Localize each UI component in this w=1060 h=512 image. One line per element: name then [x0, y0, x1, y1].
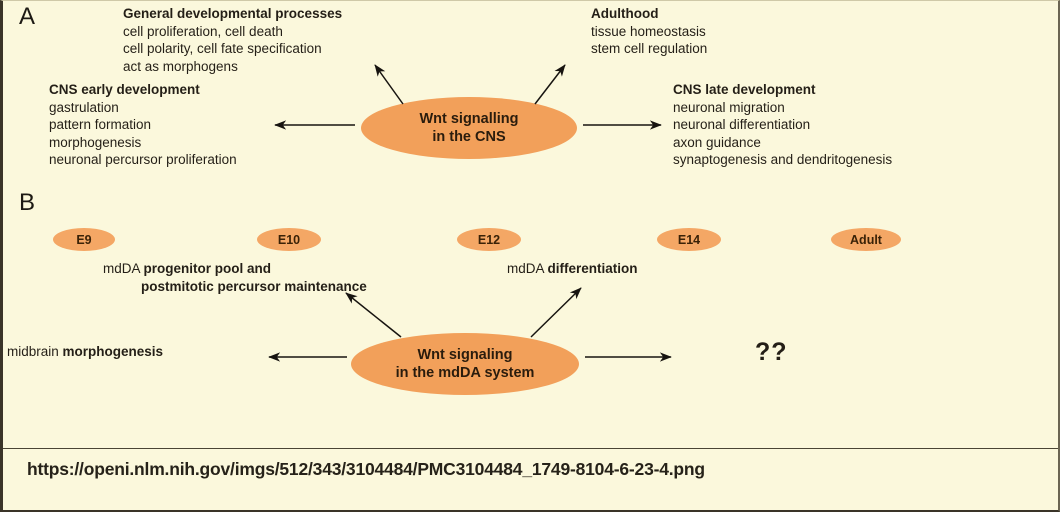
core-node-wnt-signaling-mdda: Wnt signaling in the mdDA system [351, 333, 579, 395]
block-heading: General developmental processes [123, 5, 342, 23]
label-line-2: postmitotic percursor maintenance [103, 278, 367, 296]
timeline-stage-e9: E9 [53, 228, 115, 251]
panel-letter-b: B [19, 189, 36, 217]
arrow-overlay [3, 1, 1060, 512]
label-mdda-differentiation: mdDA differentiation [507, 260, 638, 278]
timeline-stage-label: E12 [478, 233, 500, 247]
label-prefix: mdDA [507, 261, 548, 276]
block-item: cell polarity, cell fate specification [123, 40, 342, 58]
core-node-wnt-signalling-cns: Wnt signalling in the CNS [361, 97, 577, 159]
caption-separator [3, 448, 1058, 449]
timeline-stage-label: E14 [678, 233, 700, 247]
block-item: stem cell regulation [591, 40, 707, 58]
block-heading: Adulthood [591, 5, 707, 23]
block-heading: CNS early development [49, 81, 237, 99]
core-node-label: Wnt signaling in the mdDA system [396, 346, 535, 382]
source-url-caption: https://openi.nlm.nih.gov/imgs/512/343/3… [27, 459, 705, 480]
panel-letter-a: A [19, 3, 36, 31]
block-item: axon guidance [673, 134, 892, 152]
text-block-cns-early-development: CNS early development gastrulation patte… [49, 81, 237, 169]
core-label-line-1: Wnt signaling [417, 347, 512, 363]
timeline-stage-adult: Adult [831, 228, 901, 251]
arrow-a-to-adulthood [535, 65, 565, 104]
core-label-line-2: in the mdDA system [396, 365, 535, 381]
timeline-stage-e14: E14 [657, 228, 721, 251]
block-item: neuronal migration [673, 99, 892, 117]
timeline-stage-label: Adult [850, 233, 882, 247]
arrow-a-to-general [375, 65, 403, 104]
block-item: gastrulation [49, 99, 237, 117]
label-emphasis: postmitotic percursor maintenance [141, 279, 367, 294]
label-emphasis: progenitor pool and [144, 261, 272, 276]
label-line-1: mdDA progenitor pool and [103, 261, 271, 276]
arrow-b-to-differentiation [531, 288, 581, 337]
core-node-label: Wnt signalling in the CNS [419, 110, 518, 146]
timeline-stage-e12: E12 [457, 228, 521, 251]
block-item: tissue homeostasis [591, 23, 707, 41]
text-block-cns-late-development: CNS late development neuronal migration … [673, 81, 892, 169]
block-item: neuronal differentiation [673, 116, 892, 134]
timeline-stage-e10: E10 [257, 228, 321, 251]
label-unknown-question-marks: ?? [755, 338, 788, 367]
label-emphasis: differentiation [548, 261, 638, 276]
core-label-line-1: Wnt signalling [419, 111, 518, 127]
label-prefix: mdDA [103, 261, 144, 276]
block-heading: CNS late development [673, 81, 892, 99]
block-item: pattern formation [49, 116, 237, 134]
block-item: morphogenesis [49, 134, 237, 152]
label-mdda-progenitor-pool: mdDA progenitor pool and postmitotic per… [103, 260, 367, 296]
block-item: synaptogenesis and dendritogenesis [673, 151, 892, 169]
block-item: cell proliferation, cell death [123, 23, 342, 41]
figure-canvas: A General developmental processes cell p… [0, 0, 1060, 512]
timeline-stage-label: E9 [76, 233, 91, 247]
block-item: act as morphogens [123, 58, 342, 76]
arrow-b-to-progenitor [346, 293, 401, 337]
timeline-stage-label: E10 [278, 233, 300, 247]
block-item: neuronal percursor proliferation [49, 151, 237, 169]
label-midbrain-morphogenesis: midbrain morphogenesis [7, 343, 163, 361]
label-emphasis: morphogenesis [63, 344, 164, 359]
label-prefix: midbrain [7, 344, 63, 359]
text-block-general-developmental-processes: General developmental processes cell pro… [123, 5, 342, 75]
core-label-line-2: in the CNS [432, 129, 505, 145]
text-block-adulthood: Adulthood tissue homeostasis stem cell r… [591, 5, 707, 58]
